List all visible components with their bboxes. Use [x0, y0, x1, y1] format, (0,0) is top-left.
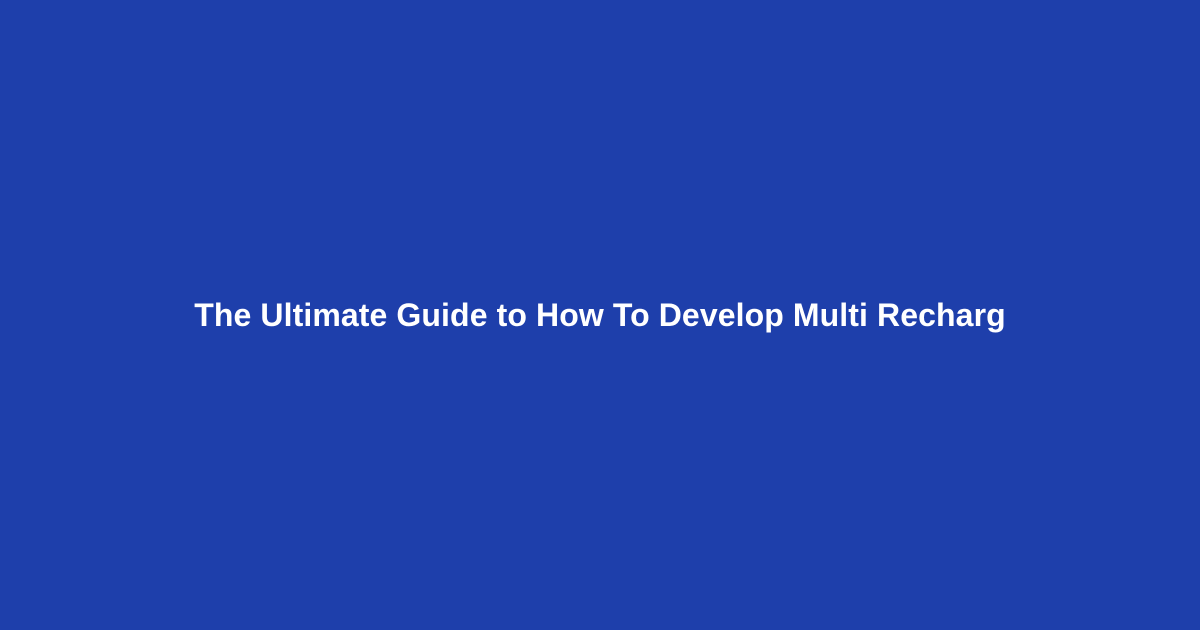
social-share-card: The Ultimate Guide to How To Develop Mul… — [0, 0, 1200, 630]
card-title: The Ultimate Guide to How To Develop Mul… — [60, 295, 1140, 336]
card-content-wrapper: The Ultimate Guide to How To Develop Mul… — [0, 295, 1200, 336]
